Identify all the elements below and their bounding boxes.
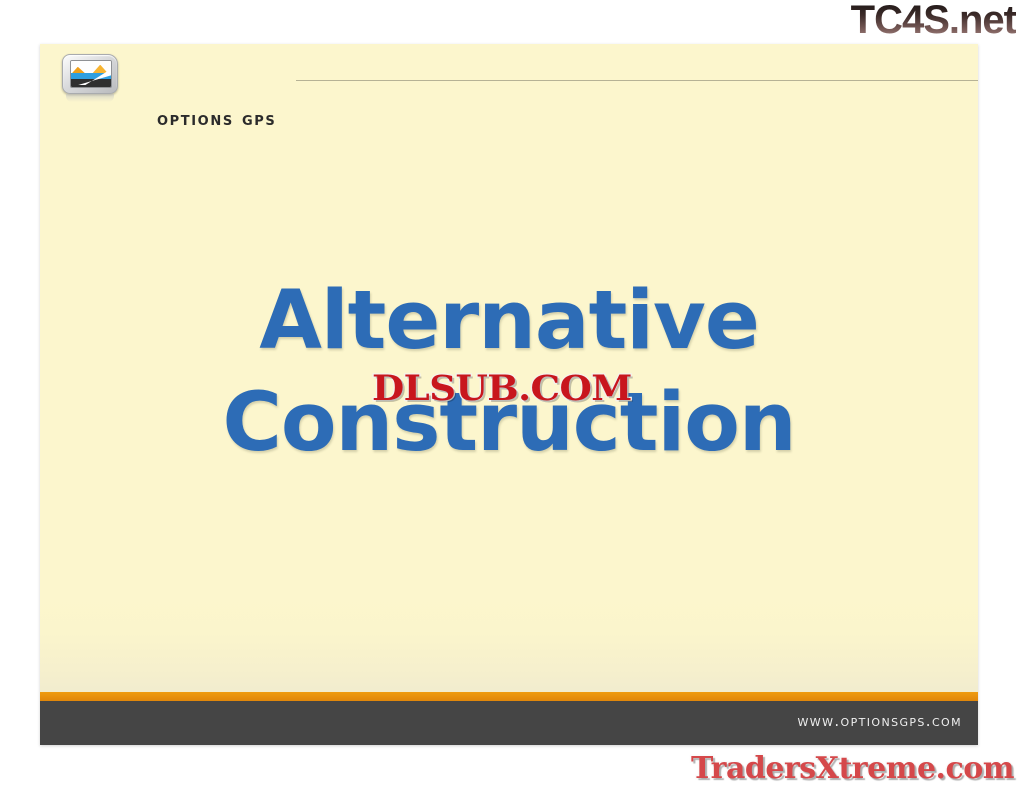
slide-header: Options GPS (40, 44, 978, 106)
footer-accent-bar (40, 692, 978, 701)
gps-device-body (62, 54, 118, 94)
tradersxtreme-watermark: TradersXtreme.com (691, 751, 1014, 787)
brand-name: Options GPS (157, 110, 276, 129)
footer-bar: www.OptionsGPS.com (40, 701, 978, 745)
footer-website-url: www.OptionsGPS.com (798, 714, 962, 729)
gps-device-screen (70, 60, 112, 88)
header-divider (296, 80, 978, 81)
dlsub-watermark: DLSUB.COM (372, 370, 632, 408)
screen-land (71, 79, 111, 87)
slide-title-line-1: Alternative (40, 270, 978, 372)
gps-device-icon (62, 54, 118, 100)
presentation-slide-page: { "watermarks": { "top_right": "TC4S.net… (0, 0, 1024, 791)
gps-device-reflection (66, 94, 114, 102)
tc4s-watermark: TC4S.net (851, 0, 1016, 42)
